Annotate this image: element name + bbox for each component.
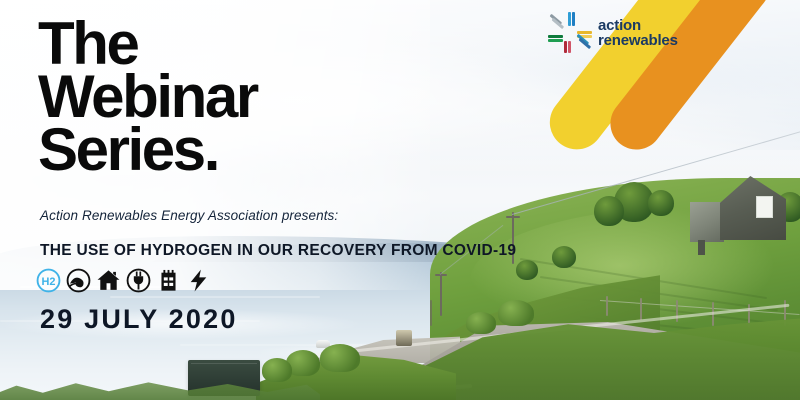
tree [648,190,674,216]
cottage-gable [720,176,786,240]
fence-post [606,296,608,316]
presenter-line: Action Renewables Energy Association pre… [40,208,338,223]
headline-line-3: Series. [38,124,257,177]
cottage-door [698,240,705,255]
stone-cottage-ruin [690,176,786,242]
sea-streak [110,296,320,298]
bush [320,344,360,372]
plug-icon [126,268,151,293]
logo-line-2: renewables [598,33,678,48]
tree [516,260,538,280]
event-date: 29 JULY 2020 [40,304,238,335]
fence-post [676,300,678,322]
fence-post [640,298,642,320]
webinar-topic: THE USE OF HYDROGEN IN OUR RECOVERY FROM… [40,242,516,260]
action-renewables-logo[interactable]: action renewables [548,10,688,56]
cottage-window [756,196,773,218]
bush [262,358,292,382]
house-icon [96,268,121,293]
bush [498,300,534,326]
svg-text:H2: H2 [42,276,56,288]
bush [466,312,496,334]
tree [594,196,624,226]
hydrogen-h2-icon: H2 [36,268,61,293]
tree [552,246,576,268]
wave-icon [66,268,91,293]
cottage-annex [690,202,724,242]
telegraph-pole [430,300,432,326]
telegraph-crossbar [506,216,520,218]
van [396,330,412,346]
logo-wordmark: action renewables [598,18,678,49]
page-title: The Webinar Series. [38,18,257,176]
action-renewables-burst-mark [548,11,592,55]
telegraph-pole [440,272,442,316]
logo-line-1: action [598,18,678,33]
theme-icon-row: H2 [36,268,211,293]
lightning-bolt-icon [186,268,211,293]
building-icon [156,268,181,293]
webinar-poster: action renewables The Webinar Series. Ac… [0,0,800,400]
